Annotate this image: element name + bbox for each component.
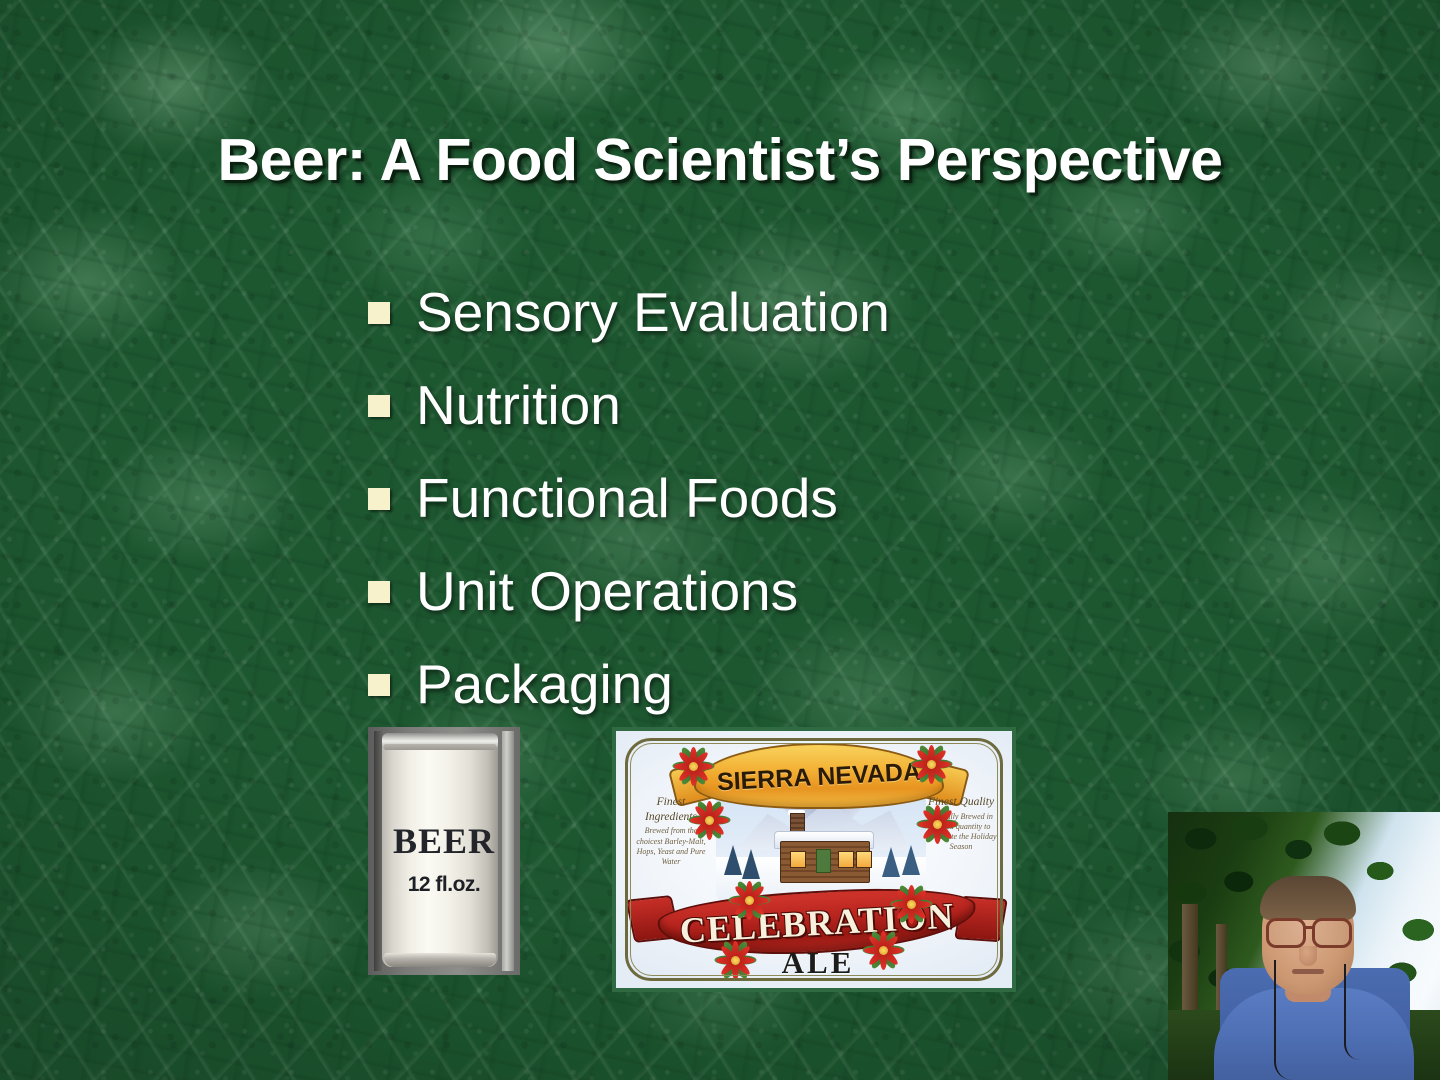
can-volume-text: 12 fl.oz. (368, 873, 520, 897)
label-face: SIERRA NEVADA Finest Ingredients Brewed … (616, 731, 1012, 988)
square-bullet-icon (368, 302, 390, 324)
list-item: Packaging (368, 638, 1268, 731)
presenter-hair (1260, 876, 1356, 920)
bullet-list: Sensory Evaluation Nutrition Functional … (368, 266, 1268, 731)
square-bullet-icon (368, 674, 390, 696)
eyeglass-lens-left (1266, 918, 1306, 948)
list-item: Functional Foods (368, 452, 1268, 545)
list-item-label: Functional Foods (416, 471, 838, 526)
eyeglasses-icon (1264, 918, 1354, 944)
list-item-label: Sensory Evaluation (416, 285, 890, 340)
beer-can-image: BEER 12 fl.oz. (368, 727, 520, 975)
list-item-label: Unit Operations (416, 564, 798, 619)
presenter-webcam-video[interactable] (1168, 812, 1440, 1080)
square-bullet-icon (368, 395, 390, 417)
list-item-label: Packaging (416, 657, 673, 712)
can-bottom-rim (384, 953, 496, 967)
list-item: Nutrition (368, 359, 1268, 452)
list-item: Sensory Evaluation (368, 266, 1268, 359)
can-brand-text: BEER (368, 820, 520, 862)
sierra-nevada-label-image: SIERRA NEVADA Finest Ingredients Brewed … (612, 727, 1016, 992)
square-bullet-icon (368, 581, 390, 603)
square-bullet-icon (368, 488, 390, 510)
presenter-nose (1299, 946, 1317, 966)
can-neck-band (384, 744, 496, 750)
presentation-slide: Beer: A Food Scientist’s Perspective Sen… (0, 0, 1440, 1080)
earbud-cord (1344, 964, 1360, 1060)
list-item: Unit Operations (368, 545, 1268, 638)
slide-title: Beer: A Food Scientist’s Perspective (0, 126, 1440, 194)
eyeglass-lens-right (1312, 918, 1352, 948)
earbud-cord (1274, 960, 1294, 1080)
presenter-mouth (1292, 969, 1324, 974)
label-frame-inner (630, 743, 998, 976)
list-item-label: Nutrition (416, 378, 621, 433)
